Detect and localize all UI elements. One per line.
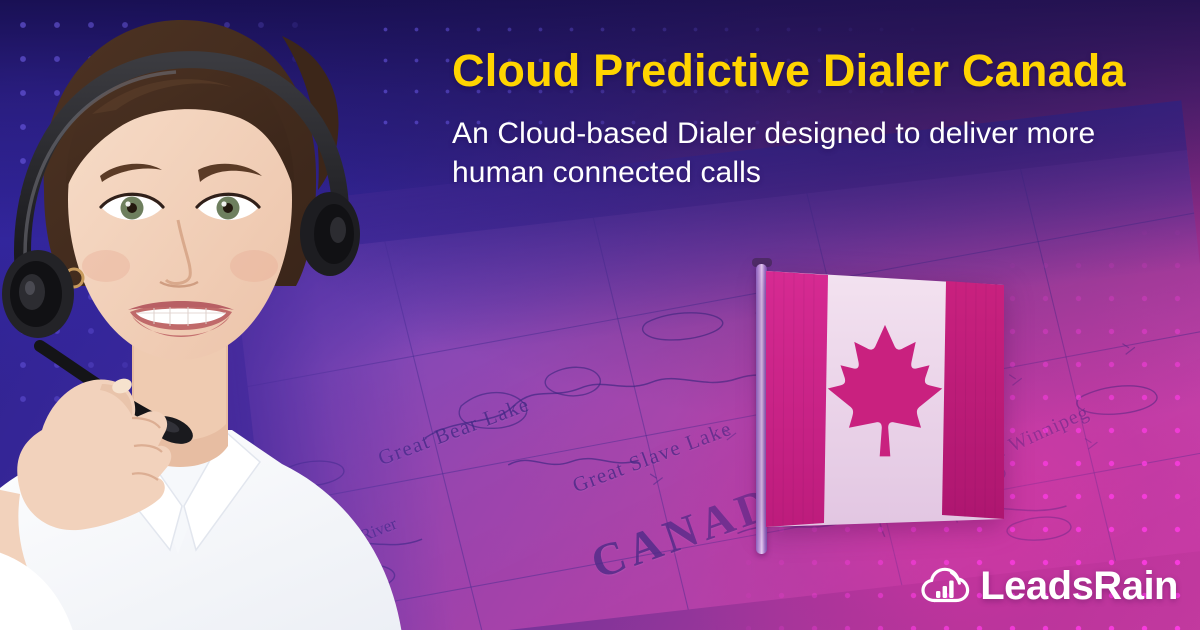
- brand-name: LeadsRain: [980, 566, 1178, 606]
- canadian-flag: [744, 258, 1004, 558]
- flag-cloth: [766, 269, 1004, 535]
- page-subtitle: An Cloud-based Dialer designed to delive…: [452, 114, 1142, 193]
- call-center-agent-photo: [0, 0, 452, 630]
- page-title: Cloud Predictive Dialer Canada: [452, 46, 1182, 96]
- copy-block: Cloud Predictive Dialer Canada An Cloud-…: [452, 46, 1182, 193]
- leadsrain-logo[interactable]: LeadsRain: [920, 564, 1178, 608]
- promotional-banner: Great Bear Lake Great Slave Lake River R…: [0, 0, 1200, 630]
- cloud-bar-chart-icon: [920, 564, 974, 608]
